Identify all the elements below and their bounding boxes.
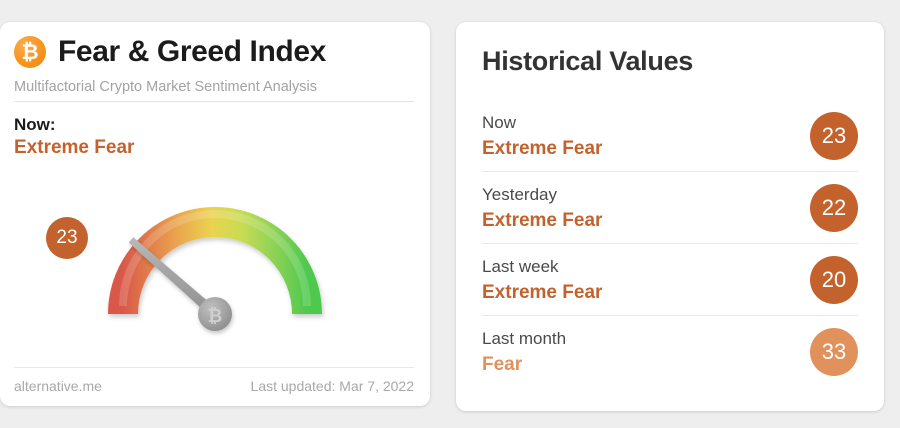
history-value-badge: 23: [810, 112, 858, 160]
list-item[interactable]: Now Extreme Fear 23: [482, 100, 858, 172]
page-title: Fear & Greed Index: [58, 35, 326, 69]
bitcoin-hub-icon: ₿: [208, 306, 223, 327]
history-classification: Extreme Fear: [482, 138, 602, 160]
history-period-label: Last week: [482, 257, 559, 277]
fear-greed-gauge-card: ₿ Fear & Greed Index Multifactorial Cryp…: [0, 22, 430, 406]
bitcoin-icon: ₿: [14, 36, 46, 68]
gauge-chart: ₿ 23: [0, 162, 430, 377]
list-item[interactable]: Last month Fear 33: [482, 316, 858, 388]
footer-last-updated: Last updated: Mar 7, 2022: [251, 378, 414, 394]
header-divider: [14, 101, 414, 102]
historical-values-card: Historical Values Now Extreme Fear 23 Ye…: [456, 22, 884, 411]
page-root: ₿ Fear & Greed Index Multifactorial Cryp…: [0, 0, 900, 428]
history-value-badge: 20: [810, 256, 858, 304]
gauge-svg: ₿: [0, 162, 430, 377]
history-period-label: Now: [482, 113, 516, 133]
history-classification: Extreme Fear: [482, 210, 602, 232]
page-subtitle: Multifactorial Crypto Market Sentiment A…: [14, 79, 317, 95]
now-label: Now:: [14, 115, 56, 135]
gauge-value-badge: 23: [46, 217, 88, 259]
history-period-label: Yesterday: [482, 185, 557, 205]
footer-divider: [14, 367, 414, 368]
history-classification: Extreme Fear: [482, 282, 602, 304]
history-value-badge: 33: [810, 328, 858, 376]
historical-values-title: Historical Values: [482, 46, 693, 77]
history-period-label: Last month: [482, 329, 566, 349]
gauge-card-header: ₿ Fear & Greed Index: [14, 35, 326, 69]
now-classification: Extreme Fear: [14, 137, 134, 159]
list-item[interactable]: Last week Extreme Fear 20: [482, 244, 858, 316]
footer-source-link[interactable]: alternative.me: [14, 378, 102, 394]
history-value-badge: 22: [810, 184, 858, 232]
history-classification: Fear: [482, 354, 522, 376]
list-item[interactable]: Yesterday Extreme Fear 22: [482, 172, 858, 244]
historical-values-list: Now Extreme Fear 23 Yesterday Extreme Fe…: [482, 100, 858, 388]
